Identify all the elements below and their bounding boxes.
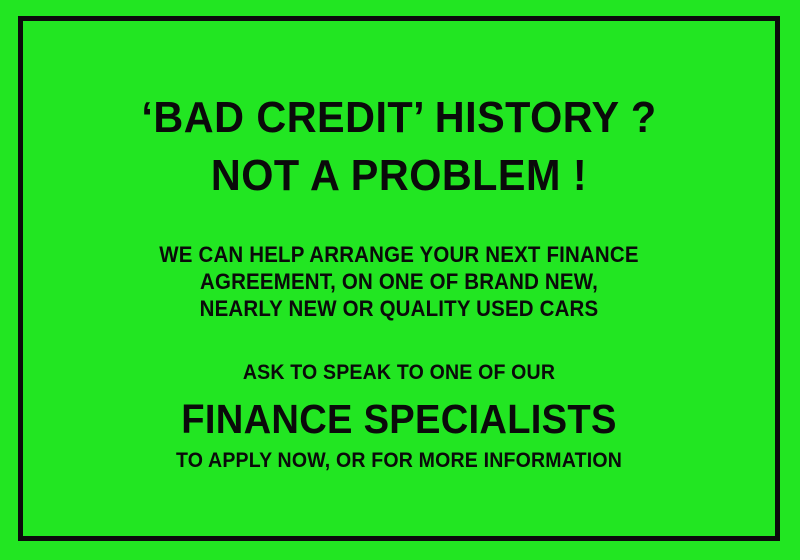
- cta-lead-text: ASK TO SPEAK TO ONE OF OUR: [49, 360, 748, 386]
- call-to-action-block: ASK TO SPEAK TO ONE OF OUR FINANCE SPECI…: [23, 360, 775, 474]
- poster-content: ‘BAD CREDIT’ HISTORY ? NOT A PROBLEM ! W…: [23, 21, 775, 536]
- poster-border-frame: ‘BAD CREDIT’ HISTORY ? NOT A PROBLEM ! W…: [18, 16, 780, 541]
- body-line-1: WE CAN HELP ARRANGE YOUR NEXT FINANCE: [49, 241, 748, 268]
- cta-footer-text: TO APPLY NOW, OR FOR MORE INFORMATION: [49, 448, 748, 474]
- headline-block: ‘BAD CREDIT’ HISTORY ? NOT A PROBLEM !: [23, 93, 775, 201]
- headline-line-2: NOT A PROBLEM !: [46, 151, 753, 201]
- body-line-3: NEARLY NEW OR QUALITY USED CARS: [49, 295, 748, 322]
- body-line-2: AGREEMENT, ON ONE OF BRAND NEW,: [49, 268, 748, 295]
- cta-headline-text: FINANCE SPECIALISTS: [49, 396, 748, 442]
- headline-line-1: ‘BAD CREDIT’ HISTORY ?: [46, 93, 753, 143]
- poster-advertisement: ‘BAD CREDIT’ HISTORY ? NOT A PROBLEM ! W…: [0, 0, 800, 560]
- body-copy-block: WE CAN HELP ARRANGE YOUR NEXT FINANCE AG…: [23, 241, 775, 322]
